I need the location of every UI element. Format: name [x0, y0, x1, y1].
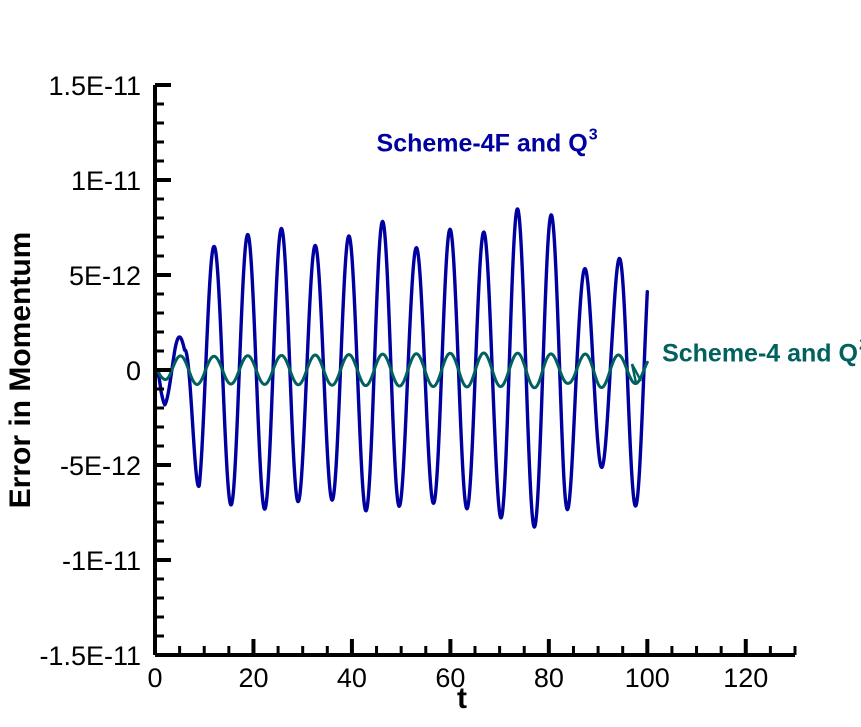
data-series-layer: [155, 209, 647, 527]
y-axis-tick-label: -1E-11: [62, 546, 141, 576]
x-axis-tick-label: 20: [238, 663, 268, 693]
plot-area: -1.5E-11-1E-11-5E-1205E-121E-111.5E-1102…: [39, 71, 861, 693]
plot-canvas: -1.5E-11-1E-11-5E-1205E-121E-111.5E-1102…: [0, 0, 861, 727]
x-axis-title: t: [457, 682, 467, 715]
y-axis-tick-label: 5E-12: [69, 261, 141, 291]
series-label-superscript: 3: [589, 127, 598, 144]
y-axis-tick-label: 1E-11: [71, 166, 141, 196]
data-series-line: [155, 209, 647, 527]
y-axis-tick-label: -5E-12: [60, 451, 141, 481]
data-series-line: [155, 353, 647, 388]
chart-figure: -1.5E-11-1E-11-5E-1205E-121E-111.5E-1102…: [0, 0, 861, 727]
series-label-text: Scheme-4F and Q: [377, 130, 588, 158]
x-axis-tick-label: 80: [534, 663, 564, 693]
y-axis-tick-label: 0: [126, 356, 141, 386]
series-label-scheme-4f: Scheme-4F and Q3: [377, 127, 598, 158]
series-label-text: Scheme-4 and Q: [662, 339, 858, 367]
label-layer: -1.5E-11-1E-11-5E-1205E-121E-111.5E-1102…: [39, 71, 861, 693]
y-axis-tick-label: 1.5E-11: [48, 71, 141, 101]
x-axis-tick-label: 0: [147, 663, 162, 693]
y-axis-title: Error in Momentum: [4, 232, 37, 509]
series-label-scheme-4: Scheme-4 and Q2: [662, 336, 861, 367]
x-axis-tick-label: 120: [723, 663, 768, 693]
x-axis-tick-label: 100: [625, 663, 670, 693]
x-axis-tick-label: 40: [337, 663, 367, 693]
y-axis-tick-label: -1.5E-11: [39, 641, 141, 671]
